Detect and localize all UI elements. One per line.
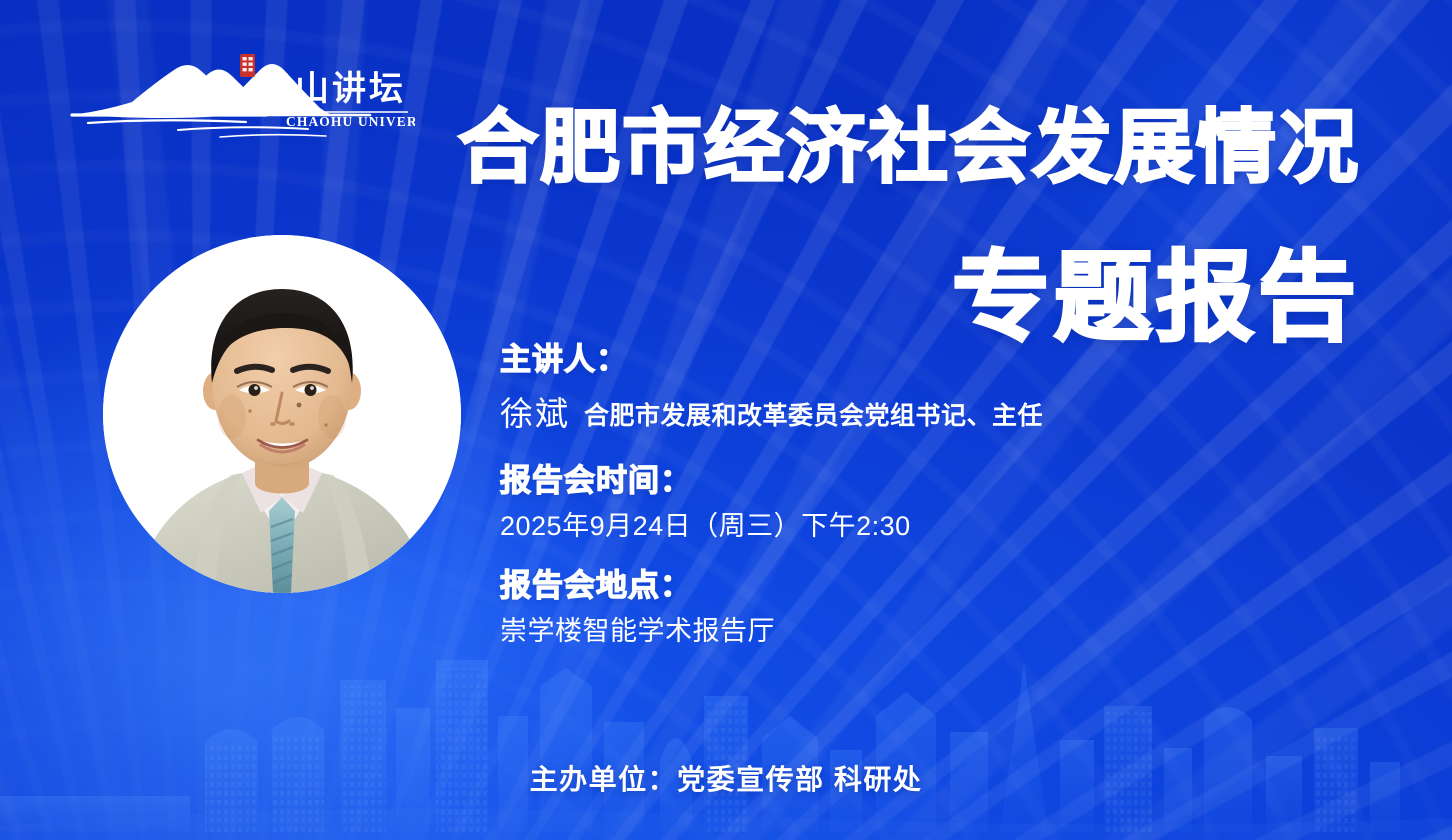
speaker-name: 徐斌	[500, 387, 570, 435]
red-seal-icon	[240, 54, 255, 77]
speaker-portrait-photo	[103, 235, 461, 593]
footer-bar: 主办单位：党委宣传部 科研处	[0, 758, 1452, 798]
logo-chinese-text: 汤山讲坛	[258, 70, 406, 108]
time-value: 2025年9月24日（周三）下午2:30	[500, 508, 1380, 544]
venue-label: 报告会地点：	[500, 566, 1380, 607]
poster-title-line2: 专题报告	[952, 248, 1360, 346]
chaohu-university-logo: 汤山讲坛 CHAOHU UNIVERSITY	[70, 52, 415, 144]
speaker-row: 徐斌 合肥市发展和改革委员会党组书记、主任	[500, 387, 1380, 435]
speaker-job-title: 合肥市发展和改革委员会党组书记、主任	[584, 396, 1043, 432]
event-info-block: 主讲人： 徐斌 合肥市发展和改革委员会党组书记、主任 报告会时间： 2025年9…	[500, 340, 1380, 649]
venue-value: 崇学楼智能学术报告厅	[500, 613, 1380, 649]
time-label: 报告会时间：	[500, 461, 1380, 502]
organizer-text: 主办单位：党委宣传部 科研处	[530, 758, 923, 798]
logo-english-text: CHAOHU UNIVERSITY	[286, 114, 415, 129]
poster-title-line1: 合肥市经济社会发展情况	[458, 108, 1360, 188]
city-skyline-silhouette	[0, 620, 1452, 840]
poster-canvas: 汤山讲坛 CHAOHU UNIVERSITY 合肥市经济社会发展情况 专题报告	[0, 0, 1452, 840]
speaker-label: 主讲人：	[500, 340, 1380, 381]
